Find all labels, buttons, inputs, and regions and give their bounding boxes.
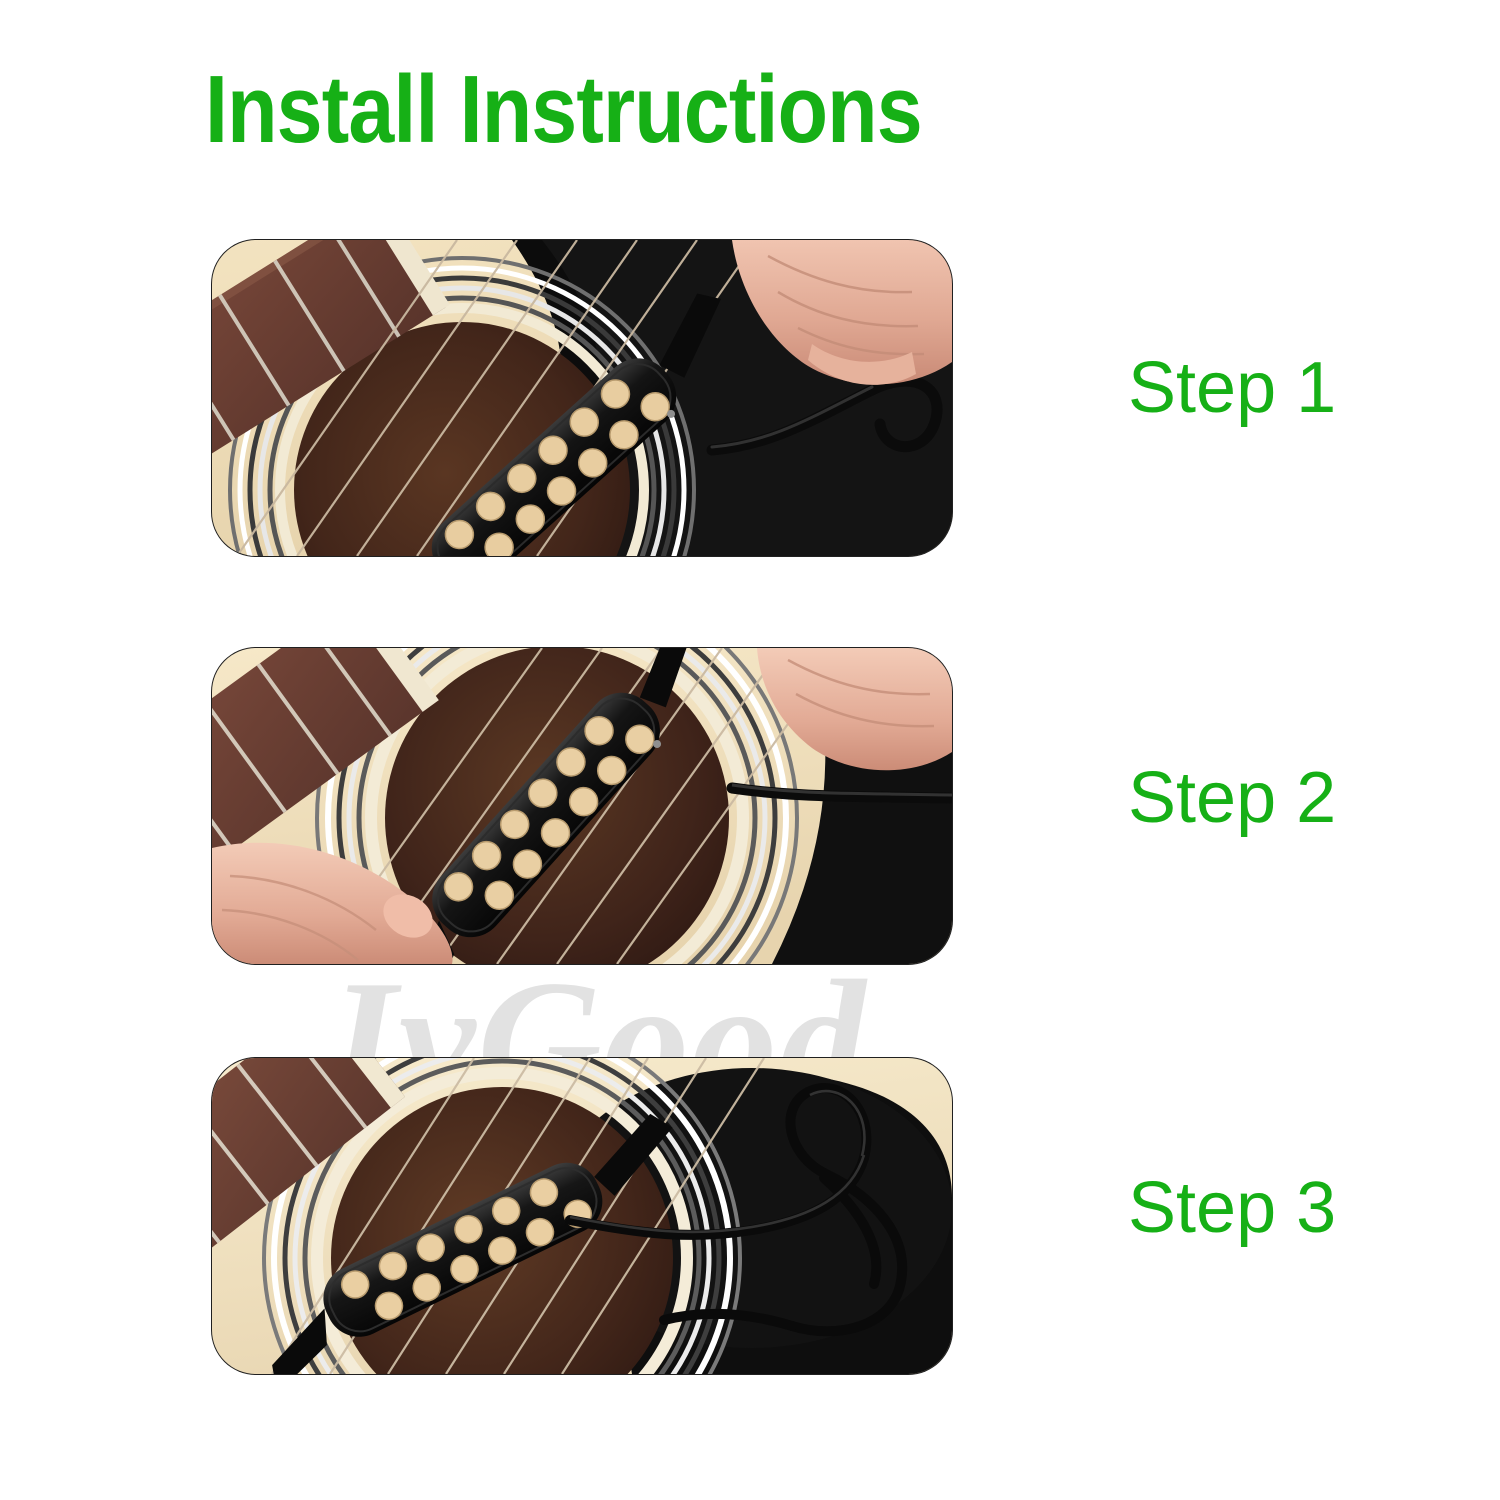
step-photo-3 xyxy=(212,1058,952,1374)
page-title: Install Instructions xyxy=(205,62,922,158)
step-label-2: Step 2 xyxy=(1128,762,1336,834)
step-photo-2 xyxy=(212,648,952,964)
step-photo-3-image xyxy=(212,1058,952,1374)
instruction-sheet: Install Instructions IvGood xyxy=(0,0,1500,1500)
step-photo-2-image xyxy=(212,648,952,964)
step-label-3: Step 3 xyxy=(1128,1172,1336,1244)
step-label-1: Step 1 xyxy=(1128,352,1336,424)
step-photo-1-image xyxy=(212,240,952,556)
step-photo-1 xyxy=(212,240,952,556)
